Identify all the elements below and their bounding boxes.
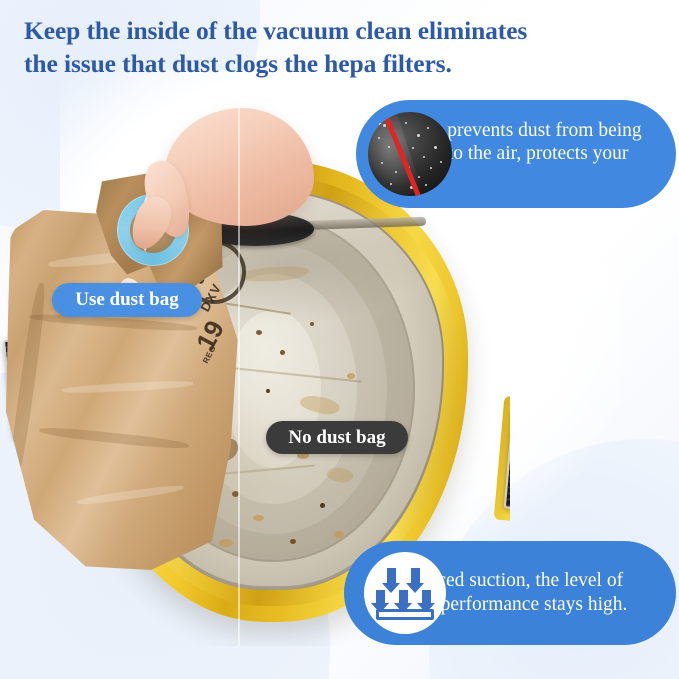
before-after-split-line	[238, 86, 240, 646]
use-dust-bag-label: Use dust bag	[52, 283, 202, 317]
headline-line-2: the issue that dust clogs the hepa filte…	[24, 47, 644, 80]
suction-surface-bar	[376, 609, 434, 620]
promo-image: Keep the inside of the vacuum clean elim…	[0, 0, 679, 679]
callout-bag-prevents-dust: The bag prevents dust from being blown i…	[356, 100, 676, 208]
dusty-surface-circle-icon	[368, 112, 452, 196]
callout-no-reduced-suction: No reduced suction, the level of vacuum …	[344, 541, 676, 645]
paper-dust-bag: JHK DXV 19 REG	[0, 144, 248, 574]
headline-line-1: Keep the inside of the vacuum clean elim…	[24, 16, 527, 45]
headline: Keep the inside of the vacuum clean elim…	[24, 14, 644, 80]
hand	[126, 138, 306, 278]
downward-suction-arrows-icon	[364, 552, 446, 634]
no-dust-bag-label: No dust bag	[266, 421, 408, 454]
